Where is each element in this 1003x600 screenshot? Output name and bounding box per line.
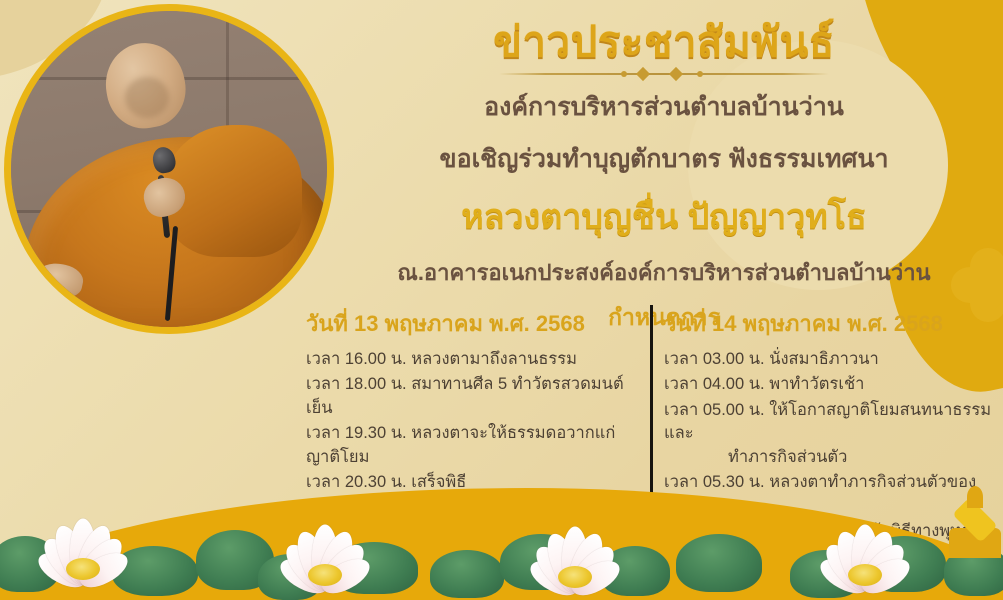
monk-name: หลวงตาบุญชื่น ปัญญาวุทโธ [340, 189, 988, 243]
schedule-item-text: เวลา 03.00 น. นั่งสมาธิภาวนา [664, 350, 879, 368]
portrait-image [11, 11, 327, 327]
lotus-flower [790, 508, 940, 600]
schedule-item: เวลา 19.30 น. หลวงตาจะให้ธรรมดอวากแก่ญาต… [292, 422, 624, 469]
venue-line: ณ.อาคารอเนกประสงค์องค์การบริหารส่วนตำบลบ… [340, 255, 988, 290]
title-ornament-left-icon [445, 25, 479, 59]
title-ornament-right-icon [849, 25, 883, 59]
schedule-item-continuation: ทำภารกิจส่วนตัว [664, 446, 992, 469]
schedule-item-text: เวลา 18.00 น. สมาทานศีล 5 ทำวัตรสวดมนต์เ… [306, 375, 624, 416]
day2-heading: วันที่ 14 พฤษภาคม พ.ศ. 2568 [664, 306, 992, 341]
schedule-item-text: เวลา 05.00 น. ให้โอกาสญาติโยมสนทนาธรรมแล… [664, 401, 991, 442]
monk-portrait [4, 4, 334, 334]
schedule-item: เวลา 05.00 น. ให้โอกาสญาติโยมสนทนาธรรมแล… [664, 399, 992, 469]
page-title: ข่าวประชาสัมพันธ์ [493, 20, 835, 64]
announcement-poster: ข่าวประชาสัมพันธ์ องค์การบริหารส่วนตำบลบ… [0, 0, 1003, 600]
schedule-item: เวลา 04.00 น. พาทำวัตรเช้า [664, 373, 992, 396]
title-row: ข่าวประชาสัมพันธ์ [340, 20, 988, 64]
lotus-flower [8, 502, 158, 598]
schedule-item: เวลา 18.00 น. สมาทานศีล 5 ทำวัตรสวดมนต์เ… [292, 373, 624, 420]
schedule-item-text: เวลา 04.00 น. พาทำวัตรเช้า [664, 375, 864, 393]
invitation-line: ขอเชิญร่วมทำบุญตักบาตร ฟังธรรมเทศนา [340, 139, 988, 179]
schedule-item-text: เวลา 20.30 น. เสร็จพิธี [306, 473, 466, 491]
portrait-gold-ring [4, 4, 334, 334]
lotus-flower [500, 510, 650, 600]
schedule-item-text: เวลา 16.00 น. หลวงตามาถึงลานธรรม [306, 350, 577, 368]
title-underline-flourish-icon [499, 67, 829, 81]
schedule-item: เวลา 16.00 น. หลวงตามาถึงลานธรรม [292, 348, 624, 371]
day1-heading: วันที่ 13 พฤษภาคม พ.ศ. 2568 [292, 306, 624, 341]
temple-ornament-icon [939, 486, 1003, 558]
schedule-item: เวลา 03.00 น. นั่งสมาธิภาวนา [664, 348, 992, 371]
header-block: ข่าวประชาสัมพันธ์ องค์การบริหารส่วนตำบลบ… [340, 20, 988, 336]
lotus-flower [250, 508, 400, 600]
schedule-item-text: เวลา 19.30 น. หลวงตาจะให้ธรรมดอวากแก่ญาต… [306, 424, 615, 465]
organization-name: องค์การบริหารส่วนตำบลบ้านว่าน [340, 87, 988, 127]
lotus-decoration [0, 490, 1003, 600]
column-divider [650, 305, 653, 505]
